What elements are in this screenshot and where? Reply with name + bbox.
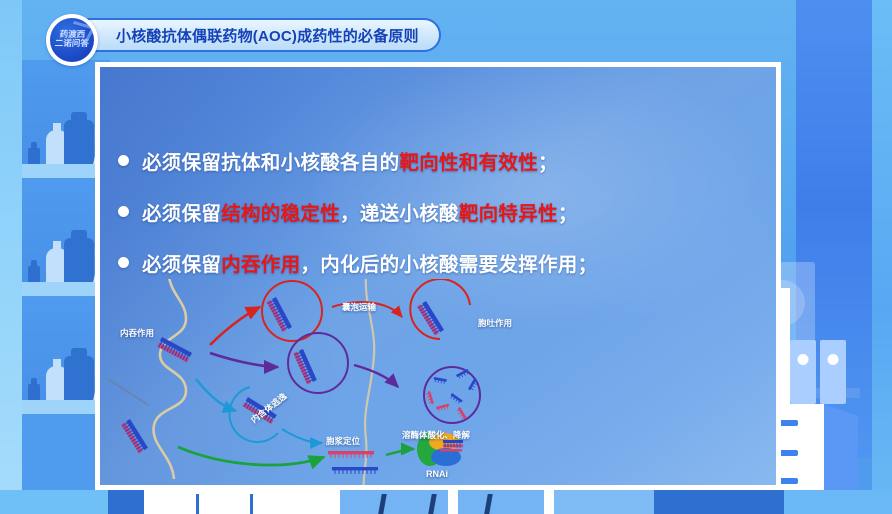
label-lysosome-degradation: 溶酶体酸化、降解 — [402, 429, 470, 441]
bullet-item-3: 必须保留内吞作用，内化后的小核酸需要发挥作用； — [118, 247, 597, 277]
title-pill: 小核酸抗体偶联药物(AOC)成药性的必备原则 — [72, 18, 441, 52]
bullet-item-1: 必须保留抗体和小核酸各自的靶向性和有效性； — [118, 145, 558, 175]
bullet-dot-icon — [118, 257, 129, 268]
bullet-dot-icon — [118, 206, 129, 217]
label-vesicle-transport: 囊泡运输 — [342, 301, 376, 313]
background-right-edge — [872, 0, 892, 514]
bullet-text-1: 必须保留抗体和小核酸各自的靶向性和有效性； — [142, 146, 558, 175]
binder — [820, 340, 846, 404]
binder — [790, 340, 816, 404]
label-endocytosis: 内吞作用 — [120, 327, 154, 339]
background-left-band — [0, 0, 22, 514]
label-rnai: RNAi — [426, 469, 448, 479]
label-cytoplasmic-localization: 胞浆定位 — [326, 435, 360, 447]
drawer-side — [824, 404, 858, 490]
slide-content-panel: 内吞作用 囊泡运输 胞吐作用 内含体逃逸 溶酶体酸化、降解 胞浆定位 RNAi … — [95, 62, 781, 490]
bullet-dot-icon — [118, 155, 129, 166]
bullet-text-3: 必须保留内吞作用，内化后的小核酸需要发挥作用； — [142, 248, 597, 277]
sirna-trafficking-diagram: 内吞作用 囊泡运输 胞吐作用 内含体逃逸 溶酶体酸化、降解 胞浆定位 RNAi — [100, 279, 776, 489]
brand-logo-icon: 药渡西二诺问答 — [46, 14, 98, 66]
page-title: 小核酸抗体偶联药物(AOC)成药性的必备原则 — [116, 25, 419, 46]
bottom-strip — [0, 490, 892, 514]
label-exocytosis: 胞吐作用 — [478, 317, 512, 329]
bullet-item-2: 必须保留结构的稳定性，递送小核酸靶向特异性； — [118, 196, 578, 226]
bullet-text-2: 必须保留结构的稳定性，递送小核酸靶向特异性； — [142, 197, 578, 226]
